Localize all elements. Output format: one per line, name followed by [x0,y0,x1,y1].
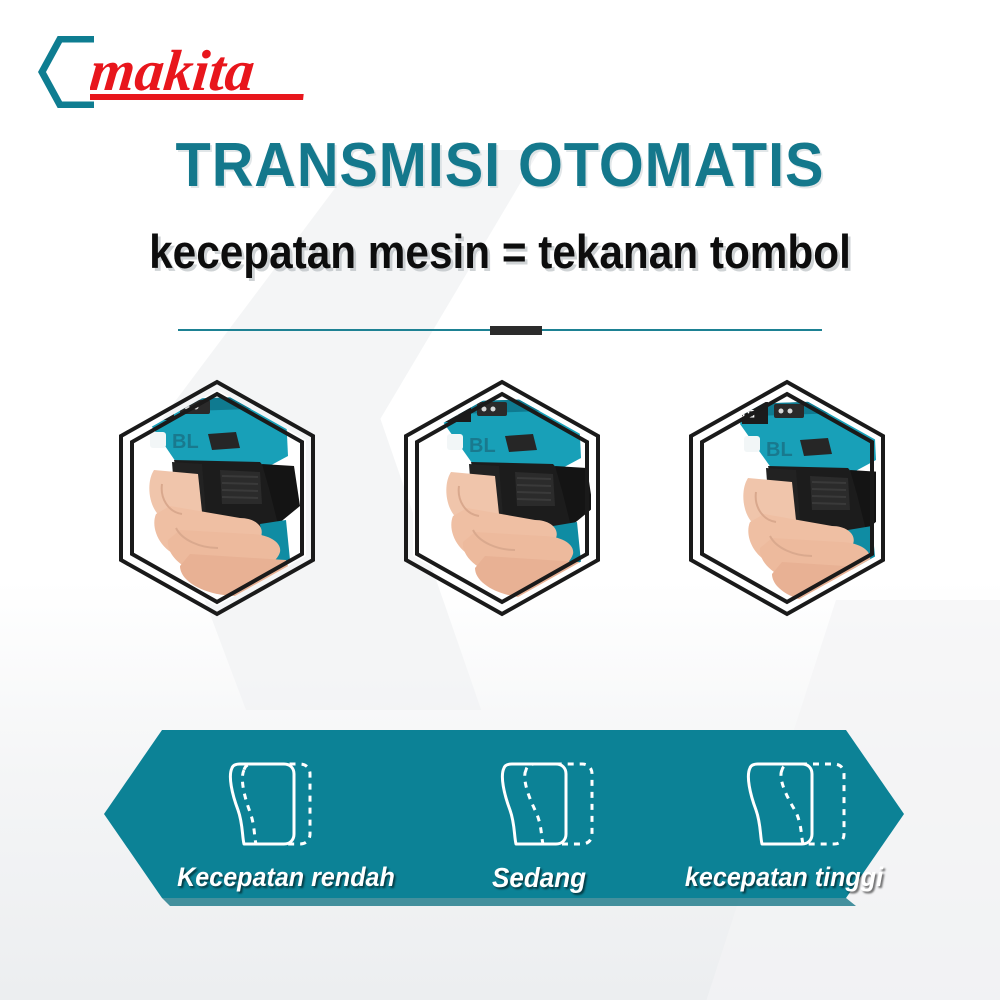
section-divider [178,326,822,334]
hexagon-photo-gallery: BT-18 BL [0,368,1000,630]
page-headline: TRANSMISI OTOMATIS [35,130,965,201]
svg-text:makita: makita [90,38,258,103]
trigger-medium-icon [490,750,600,860]
trigger-low-icon [218,750,328,860]
speed-scale-banner: Kecepatan rendah Sedang [104,722,904,906]
banner-step-label: kecepatan tinggi [672,862,895,893]
banner-step-label: Sedang [451,862,628,894]
banner-step-low: Kecepatan rendah [156,722,416,906]
divider-center-knob [490,326,542,335]
page-subheadline: kecepatan mesin = tekanan tombol [50,224,950,279]
makita-logo: makita [32,36,332,108]
svg-text:BL: BL [766,439,793,461]
banner-step-medium: Sedang [444,722,634,906]
gallery-item-full-press: BT-18 BL [680,374,894,622]
drill-photo-medium: BT-18 BL [395,374,609,622]
gallery-item-low-press: BT-18 BL [110,374,324,622]
svg-text:BT-18: BT-18 [131,403,161,415]
svg-text:BL: BL [469,435,496,457]
banner-step-high: kecepatan tinggi [664,722,904,906]
drill-photo-high: BT-18 BL [680,374,894,622]
trigger-high-icon [736,750,846,860]
product-feature-poster: makita TRANSMISI OTOMATIS kecepatan mesi… [0,0,1000,1000]
gallery-item-medium-press: BT-18 BL [395,374,609,622]
logo-wordmark: makita [90,34,330,110]
banner-step-list: Kecepatan rendah Sedang [104,722,904,906]
banner-step-label: Kecepatan rendah [165,862,407,893]
svg-text:BL: BL [172,431,199,453]
drill-photo-low: BT-18 BL [110,374,324,622]
